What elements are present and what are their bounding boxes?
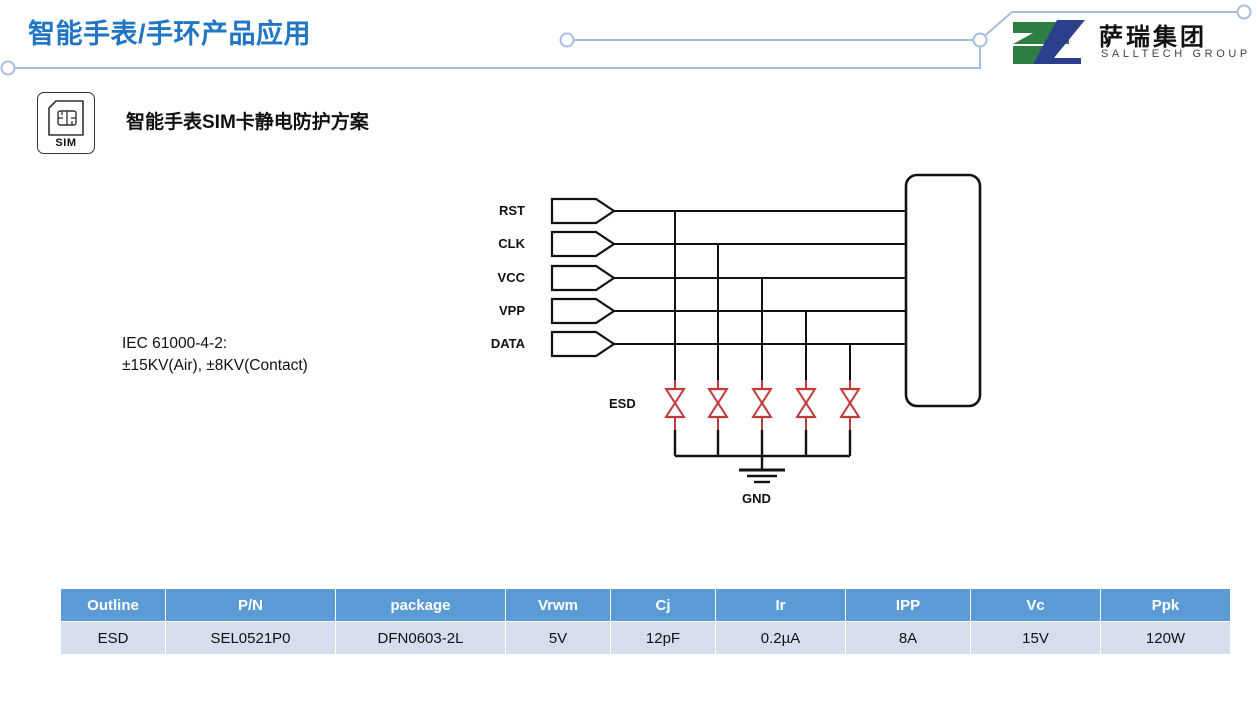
connector-data bbox=[552, 332, 614, 356]
col-header-cj: Cj bbox=[611, 589, 715, 621]
cell-outline: ESD bbox=[61, 622, 165, 654]
next-circuit-block bbox=[906, 175, 980, 406]
diode-drop-wires bbox=[675, 211, 850, 386]
cell-package: DFN0603-2L bbox=[336, 622, 505, 654]
col-header-pn: P/N bbox=[166, 589, 335, 621]
cell-cj: 12pF bbox=[611, 622, 715, 654]
esd-diode-5 bbox=[841, 389, 859, 417]
col-header-ir: Ir bbox=[716, 589, 845, 621]
signal-traces bbox=[614, 211, 906, 344]
esd-protection-schematic bbox=[0, 0, 1257, 580]
cell-ir: 0.2µA bbox=[716, 622, 845, 654]
ground-rail bbox=[675, 430, 850, 470]
col-header-package: package bbox=[336, 589, 505, 621]
col-header-vrwm: Vrwm bbox=[506, 589, 610, 621]
cell-vrwm: 5V bbox=[506, 622, 610, 654]
esd-diode-1 bbox=[666, 389, 684, 417]
esd-diode-4 bbox=[797, 389, 815, 417]
esd-diode-2 bbox=[709, 389, 727, 417]
table-row: ESD SEL0521P0 DFN0603-2L 5V 12pF 0.2µA 8… bbox=[61, 622, 1230, 654]
cell-pn: SEL0521P0 bbox=[166, 622, 335, 654]
col-header-outline: Outline bbox=[61, 589, 165, 621]
parameter-table: Outline P/N package Vrwm Cj Ir IPP Vc Pp… bbox=[60, 588, 1231, 655]
table-header-row: Outline P/N package Vrwm Cj Ir IPP Vc Pp… bbox=[61, 589, 1230, 621]
esd-diode-3 bbox=[753, 389, 771, 417]
col-header-ppk: Ppk bbox=[1101, 589, 1230, 621]
ground-symbol bbox=[739, 470, 785, 482]
connector-vpp bbox=[552, 299, 614, 323]
cell-ipp: 8A bbox=[846, 622, 970, 654]
connector-vcc bbox=[552, 266, 614, 290]
connector-clk bbox=[552, 232, 614, 256]
cell-ppk: 120W bbox=[1101, 622, 1230, 654]
connector-rst bbox=[552, 199, 614, 223]
col-header-ipp: IPP bbox=[846, 589, 970, 621]
cell-vc: 15V bbox=[971, 622, 1100, 654]
col-header-vc: Vc bbox=[971, 589, 1100, 621]
